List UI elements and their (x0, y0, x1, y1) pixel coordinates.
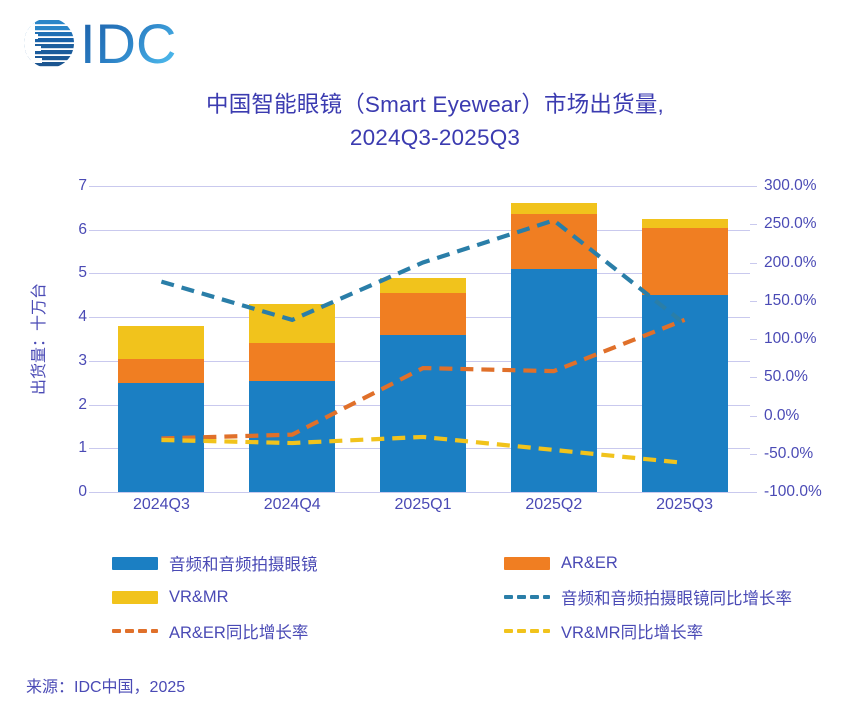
legend-label: 音频和音频拍摄眼镜同比增长率 (561, 585, 792, 609)
y-axis-left-tick-label: 0 (78, 483, 87, 501)
y-axis-left-title: 出货量：十万台 (24, 186, 50, 492)
y-axis-right-tick-label: 250.0% (764, 215, 817, 233)
chart-legend: 音频和音频拍摄眼镜AR&ERVR&MR音频和音频拍摄眼镜同比增长率AR&ER同比… (112, 546, 852, 648)
bar-segment[interactable] (249, 343, 335, 380)
y-axis-left-tick-label: 7 (78, 177, 87, 195)
legend-item[interactable]: 音频和音频拍摄眼镜同比增长率 (504, 585, 852, 609)
idc-wordmark: IDC (80, 14, 176, 72)
legend-item[interactable]: VR&MR同比增长率 (504, 619, 852, 643)
legend-dash-swatch (504, 595, 550, 599)
y-axis-left-tick-mark (89, 492, 96, 493)
legend-item[interactable]: 音频和音频拍摄眼镜 (112, 551, 504, 575)
y-axis-right-tick-mark (750, 454, 757, 455)
y-axis-right-tick-label: 0.0% (764, 407, 799, 425)
bar-group[interactable] (642, 186, 728, 492)
bar-group[interactable] (249, 186, 335, 492)
bar-segment[interactable] (511, 269, 597, 492)
y-axis-right-tick-mark (750, 263, 757, 264)
y-axis-right-tick-mark (750, 416, 757, 417)
bar-group[interactable] (118, 186, 204, 492)
page-title: 中国智能眼镜（Smart Eyewear）市场出货量, 2024Q3-2025Q… (70, 88, 800, 154)
legend-color-swatch (112, 591, 158, 604)
plot-area: 76543210300.0%250.0%200.0%150.0%100.0%50… (96, 186, 750, 492)
y-axis-right-tick-label: 200.0% (764, 254, 817, 272)
bar-segment[interactable] (380, 335, 466, 492)
legend-item[interactable]: AR&ER (504, 554, 852, 573)
globe-stripes-icon (18, 14, 80, 72)
y-axis-left-tick-label: 4 (78, 308, 87, 326)
bar-segment[interactable] (249, 381, 335, 492)
bar-segment[interactable] (380, 293, 466, 335)
bar-segment[interactable] (511, 214, 597, 269)
bar-segment[interactable] (118, 383, 204, 492)
chart-page: IDC 中国智能眼镜（Smart Eyewear）市场出货量, 2024Q3-2… (0, 0, 865, 708)
y-axis-right-tick-mark (750, 186, 757, 187)
y-axis-right-tick-label: 150.0% (764, 292, 817, 310)
y-axis-right-tick-label: -100.0% (764, 483, 822, 501)
legend-dash-swatch (504, 629, 550, 633)
legend-label: AR&ER同比增长率 (169, 619, 308, 643)
legend-label: AR&ER (561, 554, 618, 573)
y-axis-left-tick-label: 2 (78, 396, 87, 414)
y-axis-right-tick-label: 300.0% (764, 177, 817, 195)
legend-row: VR&MR音频和音频拍摄眼镜同比增长率 (112, 580, 852, 614)
y-axis-right-tick-label: -50.0% (764, 445, 813, 463)
bar-segment[interactable] (642, 295, 728, 492)
x-axis-tick-label: 2025Q3 (615, 496, 755, 514)
legend-item[interactable]: VR&MR (112, 588, 504, 607)
legend-label: VR&MR (169, 588, 229, 607)
x-axis-tick-label: 2024Q3 (91, 496, 231, 514)
idc-logo-svg: IDC (18, 14, 208, 72)
legend-label: 音频和音频拍摄眼镜 (169, 551, 318, 575)
gridline (96, 492, 750, 493)
bar-group[interactable] (511, 186, 597, 492)
legend-row: 音频和音频拍摄眼镜AR&ER (112, 546, 852, 580)
idc-logo: IDC (18, 12, 208, 74)
y-axis-left-tick-label: 5 (78, 264, 87, 282)
title-line-1: 中国智能眼镜（Smart Eyewear）市场出货量, (70, 88, 800, 121)
y-axis-left-tick-mark (89, 405, 96, 406)
legend-color-swatch (504, 557, 550, 570)
y-axis-left-tick-label: 3 (78, 352, 87, 370)
y-axis-right-tick-mark (750, 224, 757, 225)
legend-item[interactable]: AR&ER同比增长率 (112, 619, 504, 643)
bar-segment[interactable] (511, 203, 597, 214)
y-axis-left-tick-label: 1 (78, 439, 87, 457)
y-axis-left-tick-mark (89, 317, 96, 318)
y-axis-left-tick-mark (89, 448, 96, 449)
x-axis-tick-label: 2024Q4 (222, 496, 362, 514)
y-axis-left-tick-mark (89, 273, 96, 274)
y-axis-right-tick-mark (750, 492, 757, 493)
bar-segment[interactable] (118, 359, 204, 383)
bar-segment[interactable] (380, 278, 466, 293)
bar-segment[interactable] (642, 219, 728, 228)
y-axis-right-tick-mark (750, 377, 757, 378)
y-axis-left-title-text: 出货量：十万台 (25, 283, 49, 395)
legend-row: AR&ER同比增长率VR&MR同比增长率 (112, 614, 852, 648)
x-axis-tick-label: 2025Q2 (484, 496, 624, 514)
legend-color-swatch (112, 557, 158, 570)
source-note: 来源：IDC中国，2025 (26, 673, 185, 697)
y-axis-left-tick-label: 6 (78, 221, 87, 239)
y-axis-right-tick-mark (750, 339, 757, 340)
y-axis-right-tick-label: 100.0% (764, 330, 817, 348)
bar-segment[interactable] (249, 304, 335, 343)
y-axis-right-tick-mark (750, 301, 757, 302)
y-axis-left-tick-mark (89, 230, 96, 231)
bar-group[interactable] (380, 186, 466, 492)
title-line-2: 2024Q3-2025Q3 (70, 121, 800, 154)
y-axis-left-tick-mark (89, 186, 96, 187)
x-axis-tick-label: 2025Q1 (353, 496, 493, 514)
legend-dash-swatch (112, 629, 158, 633)
legend-label: VR&MR同比增长率 (561, 619, 703, 643)
y-axis-left-tick-mark (89, 361, 96, 362)
y-axis-right-tick-label: 50.0% (764, 368, 808, 386)
bar-segment[interactable] (118, 326, 204, 359)
bar-segment[interactable] (642, 228, 728, 296)
